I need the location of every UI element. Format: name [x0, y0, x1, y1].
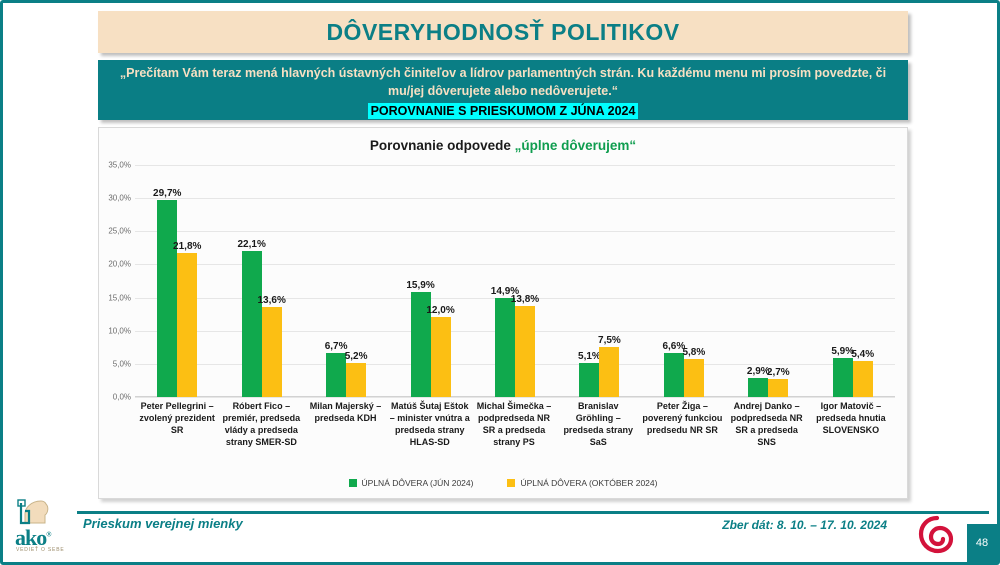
legend-swatch [349, 479, 357, 487]
y-axis-tick-label: 30,0% [108, 194, 131, 203]
bar-oktober-2024[interactable]: 13,6% [262, 307, 282, 397]
question-band: „Prečítam Vám teraz mená hlavných ústavn… [98, 60, 908, 120]
bar-value-label: 12,0% [426, 305, 454, 316]
legend-item[interactable]: ÚPLNÁ DÔVERA (JÚN 2024) [349, 478, 474, 488]
bar-value-label: 5,4% [851, 349, 874, 360]
x-axis-category-label: Igor Matovič – predseda hnutia SLOVENSKO [809, 400, 893, 468]
bar-value-label: 22,1% [237, 239, 265, 250]
head-profile-icon [15, 499, 77, 525]
bar-pair: 29,7%21,8% [157, 165, 197, 397]
question-line-2: mu/jej dôverujete alebo nedôverujete.“ [112, 83, 894, 101]
bar-pair: 14,9%13,8% [495, 165, 535, 397]
bar-oktober-2024[interactable]: 5,8% [684, 359, 704, 397]
title-band: DÔVERYHODNOSŤ POLITIKOV [98, 11, 908, 53]
bar-group: 14,9%13,8% [473, 165, 557, 397]
bar-groups: 29,7%21,8%22,1%13,6%6,7%5,2%15,9%12,0%14… [135, 165, 895, 397]
question-line-1: „Prečítam Vám teraz mená hlavných ústavn… [112, 65, 894, 83]
bar-value-label: 15,9% [406, 280, 434, 291]
chart-title-prefix: Porovnanie odpovede [370, 138, 515, 153]
y-axis-tick-label: 25,0% [108, 227, 131, 236]
registered-icon: ® [46, 531, 50, 539]
bar-value-label: 5,8% [682, 347, 705, 358]
spiral-logo-icon [917, 515, 957, 555]
page-number-badge: 48 [967, 524, 997, 562]
bar-jun-2024[interactable]: 14,9% [495, 298, 515, 397]
bar-group: 5,1%7,5% [557, 165, 641, 397]
bar-value-label: 2,7% [767, 367, 790, 378]
bar-group: 29,7%21,8% [135, 165, 219, 397]
x-axis-category-label: Róbert Fico – premiér, predseda vlády a … [219, 400, 303, 468]
bar-value-label: 5,1% [578, 351, 601, 362]
x-axis-category-label: Michal Šimečka – podpredseda NR SR a pre… [472, 400, 556, 468]
bar-group: 5,9%5,4% [811, 165, 895, 397]
y-axis-tick-label: 20,0% [108, 260, 131, 269]
x-axis-category-label: Matúš Šutaj Eštok – minister vnútra a pr… [388, 400, 472, 468]
bar-pair: 6,7%5,2% [326, 165, 366, 397]
gridline [135, 397, 895, 398]
bar-value-label: 21,8% [173, 241, 201, 252]
bar-oktober-2024[interactable]: 12,0% [431, 317, 451, 397]
bar-pair: 5,1%7,5% [579, 165, 619, 397]
bar-group: 6,7%5,2% [304, 165, 388, 397]
footer-date: Zber dát: 8. 10. – 17. 10. 2024 [722, 518, 887, 532]
legend-swatch [507, 479, 515, 487]
bar-jun-2024[interactable]: 2,9% [748, 378, 768, 397]
compare-line: POROVNANIE S PRIESKUMOM Z JÚNA 2024 [112, 102, 894, 120]
bar-jun-2024[interactable]: 6,7% [326, 353, 346, 397]
footer-divider [77, 511, 989, 514]
bar-jun-2024[interactable]: 29,7% [157, 200, 177, 397]
bar-group: 15,9%12,0% [388, 165, 472, 397]
bar-jun-2024[interactable]: 6,6% [664, 353, 684, 397]
bar-pair: 5,9%5,4% [833, 165, 873, 397]
x-axis-category-label: Peter Žiga – poverený funkciou predsedu … [640, 400, 724, 468]
bar-value-label: 29,7% [153, 188, 181, 199]
bar-jun-2024[interactable]: 5,1% [579, 363, 599, 397]
bar-value-label: 7,5% [598, 335, 621, 346]
ako-tagline: VEDIEŤ O SEBE [16, 547, 64, 553]
y-axis-labels: 0,0%5,0%10,0%15,0%20,0%25,0%30,0%35,0% [99, 165, 135, 397]
plot-area: 29,7%21,8%22,1%13,6%6,7%5,2%15,9%12,0%14… [135, 165, 895, 397]
legend-label: ÚPLNÁ DÔVERA (JÚN 2024) [362, 478, 474, 488]
bar-pair: 22,1%13,6% [242, 165, 282, 397]
x-axis-category-label: Branislav Gröhling – predseda strany SaS [556, 400, 640, 468]
y-axis-tick-label: 15,0% [108, 293, 131, 302]
bar-jun-2024[interactable]: 22,1% [242, 251, 262, 397]
legend-label: ÚPLNÁ DÔVERA (OKTÓBER 2024) [520, 478, 657, 488]
x-axis-labels: Peter Pellegrini – zvolený prezident SRR… [135, 400, 893, 468]
bar-value-label: 13,8% [511, 294, 539, 305]
x-axis-category-label: Peter Pellegrini – zvolený prezident SR [135, 400, 219, 468]
bar-group: 2,9%2,7% [726, 165, 810, 397]
bar-group: 6,6%5,8% [642, 165, 726, 397]
y-axis-tick-label: 35,0% [108, 161, 131, 170]
compare-highlight-label: POROVNANIE S PRIESKUMOM Z JÚNA 2024 [368, 103, 639, 119]
bar-oktober-2024[interactable]: 2,7% [768, 379, 788, 397]
bar-group: 22,1%13,6% [219, 165, 303, 397]
bar-value-label: 13,6% [257, 295, 285, 306]
slide: DÔVERYHODNOSŤ POLITIKOV „Prečítam Vám te… [0, 0, 1000, 565]
x-axis-category-label: Andrej Danko – podpredseda NR SR a preds… [725, 400, 809, 468]
y-axis-tick-label: 5,0% [113, 359, 131, 368]
x-axis-category-label: Milan Majerský – predseda KDH [303, 400, 387, 468]
bar-oktober-2024[interactable]: 21,8% [177, 253, 197, 398]
y-axis-tick-label: 10,0% [108, 326, 131, 335]
ako-logo: ako® VEDIEŤ O SEBE [15, 499, 77, 561]
bar-value-label: 5,2% [345, 351, 368, 362]
y-axis-tick-label: 0,0% [113, 393, 131, 402]
chart-title-highlight: „úplne dôverujem“ [515, 138, 637, 153]
chart-title: Porovnanie odpovede „úplne dôverujem“ [99, 138, 907, 153]
bar-oktober-2024[interactable]: 7,5% [599, 347, 619, 397]
legend-item[interactable]: ÚPLNÁ DÔVERA (OKTÓBER 2024) [507, 478, 657, 488]
bar-pair: 6,6%5,8% [664, 165, 704, 397]
bar-oktober-2024[interactable]: 5,2% [346, 363, 366, 397]
bar-jun-2024[interactable]: 5,9% [833, 358, 853, 397]
bar-pair: 15,9%12,0% [411, 165, 451, 397]
bar-oktober-2024[interactable]: 13,8% [515, 306, 535, 397]
bar-oktober-2024[interactable]: 5,4% [853, 361, 873, 397]
page-title: DÔVERYHODNOSŤ POLITIKOV [326, 19, 679, 46]
bar-pair: 2,9%2,7% [748, 165, 788, 397]
footer-note: Prieskum verejnej mienky [83, 516, 243, 531]
chart-legend: ÚPLNÁ DÔVERA (JÚN 2024)ÚPLNÁ DÔVERA (OKT… [99, 478, 907, 488]
chart-panel: Porovnanie odpovede „úplne dôverujem“ 0,… [98, 127, 908, 499]
